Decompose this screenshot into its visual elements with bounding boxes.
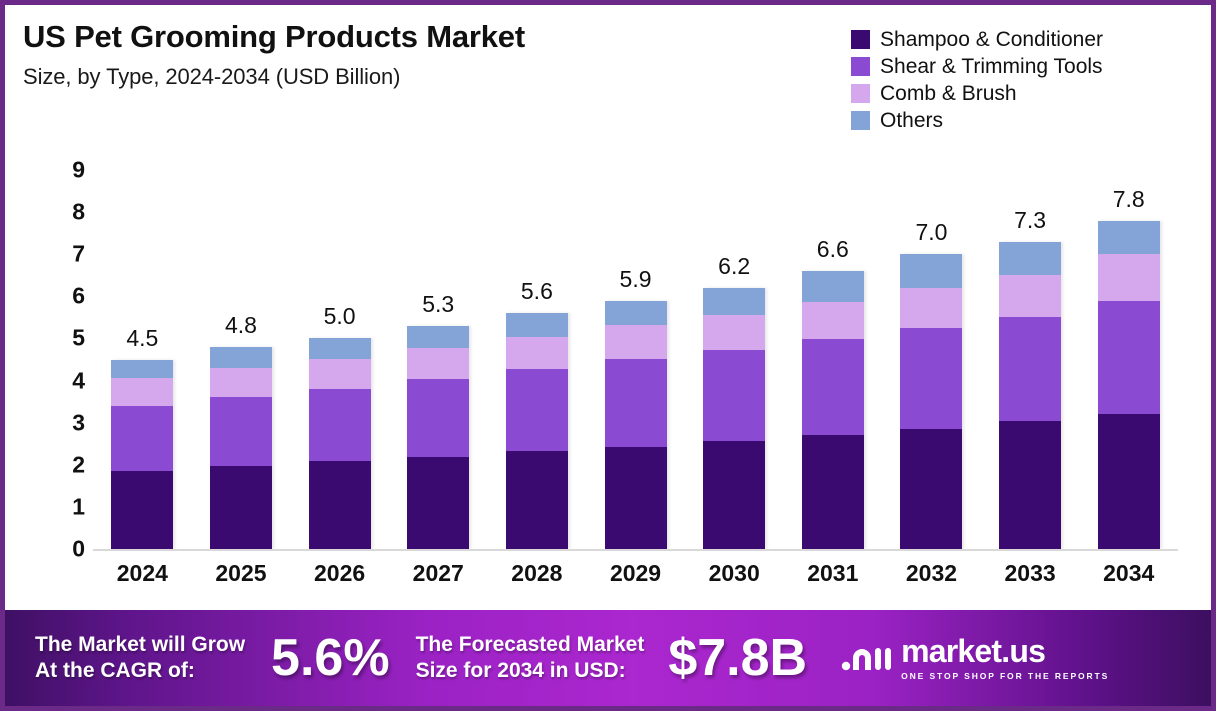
stacked-bar[interactable] — [802, 271, 864, 549]
header: US Pet Grooming Products Market Size, by… — [23, 19, 783, 90]
logo-wordmark: market.us — [901, 635, 1109, 667]
bar-value-label: 5.0 — [324, 305, 356, 328]
bar-segment[interactable] — [309, 389, 371, 461]
stacked-bar[interactable] — [111, 360, 173, 549]
page-title: US Pet Grooming Products Market — [23, 19, 783, 55]
legend-label: Shampoo & Conditioner — [880, 29, 1103, 50]
stacked-bar[interactable] — [309, 338, 371, 549]
bar-segment[interactable] — [506, 451, 568, 549]
infographic-frame: US Pet Grooming Products Market Size, by… — [0, 0, 1216, 711]
legend-swatch-icon — [851, 84, 870, 103]
cagr-label-line1: The Market will Grow — [35, 632, 245, 658]
bar-column: 6.2 — [685, 170, 784, 549]
y-axis-tick: 6 — [72, 285, 85, 308]
legend-label: Shear & Trimming Tools — [880, 56, 1103, 77]
bar-segment[interactable] — [1098, 254, 1160, 300]
y-axis-tick: 9 — [72, 159, 85, 182]
bar-segment[interactable] — [900, 328, 962, 429]
bar-segment[interactable] — [703, 315, 765, 350]
bar-segment[interactable] — [703, 441, 765, 549]
legend-label: Others — [880, 110, 943, 131]
bar-segment[interactable] — [309, 338, 371, 358]
bar-segment[interactable] — [506, 369, 568, 451]
bottom-banner: The Market will Grow At the CAGR of: 5.6… — [5, 610, 1211, 706]
bar-column: 7.3 — [981, 170, 1080, 549]
legend-item[interactable]: Others — [851, 110, 1103, 131]
y-axis-tick: 5 — [72, 327, 85, 350]
bar-segment[interactable] — [111, 378, 173, 406]
bar-column: 4.5 — [93, 170, 192, 549]
y-axis-tick: 3 — [72, 411, 85, 434]
bar-column: 4.8 — [192, 170, 291, 549]
x-axis-tick: 2029 — [586, 560, 685, 587]
cagr-value: 5.6% — [271, 632, 390, 684]
bar-column: 5.3 — [389, 170, 488, 549]
legend-label: Comb & Brush — [880, 83, 1017, 104]
bar-column: 5.6 — [488, 170, 587, 549]
stacked-bar[interactable] — [1098, 221, 1160, 549]
legend-swatch-icon — [851, 111, 870, 130]
bar-segment[interactable] — [309, 359, 371, 389]
x-axis: 2024202520262027202820292030203120322033… — [93, 560, 1178, 587]
bar-segment[interactable] — [900, 288, 962, 328]
bar-segment[interactable] — [111, 406, 173, 471]
bar-value-label: 7.8 — [1113, 188, 1145, 211]
legend-swatch-icon — [851, 57, 870, 76]
bar-segment[interactable] — [999, 242, 1061, 276]
y-axis-tick: 8 — [72, 201, 85, 224]
legend-item[interactable]: Shampoo & Conditioner — [851, 29, 1103, 50]
bar-segment[interactable] — [506, 337, 568, 369]
bar-group: 4.54.85.05.35.65.96.26.67.07.37.8 — [93, 170, 1178, 549]
chart-legend: Shampoo & ConditionerShear & Trimming To… — [851, 29, 1103, 137]
bar-segment[interactable] — [802, 339, 864, 435]
market-us-logo-icon — [841, 636, 893, 681]
cagr-label-line2: At the CAGR of: — [35, 658, 245, 684]
bar-value-label: 7.3 — [1014, 209, 1046, 232]
y-axis-tick: 2 — [72, 453, 85, 476]
brand-logo[interactable]: market.us ONE STOP SHOP FOR THE REPORTS — [841, 635, 1109, 681]
logo-tagline: ONE STOP SHOP FOR THE REPORTS — [901, 671, 1109, 681]
bar-segment[interactable] — [1098, 221, 1160, 255]
y-axis-tick: 0 — [72, 538, 85, 561]
x-axis-tick: 2030 — [685, 560, 784, 587]
bar-segment[interactable] — [999, 421, 1061, 549]
bar-segment[interactable] — [605, 359, 667, 447]
y-axis: 0123456789 — [51, 170, 85, 551]
bar-segment[interactable] — [407, 457, 469, 549]
x-axis-tick: 2032 — [882, 560, 981, 587]
x-axis-tick: 2028 — [488, 560, 587, 587]
stacked-bar[interactable] — [703, 288, 765, 549]
bar-segment[interactable] — [802, 435, 864, 549]
bar-segment[interactable] — [605, 325, 667, 359]
bar-column: 5.0 — [290, 170, 389, 549]
stacked-bar[interactable] — [210, 347, 272, 549]
y-axis-tick: 7 — [72, 243, 85, 266]
bar-segment[interactable] — [900, 429, 962, 549]
bar-column: 6.6 — [783, 170, 882, 549]
x-axis-tick: 2031 — [783, 560, 882, 587]
bar-column: 5.9 — [586, 170, 685, 549]
x-axis-tick: 2027 — [389, 560, 488, 587]
bar-segment[interactable] — [210, 368, 272, 397]
bar-value-label: 5.3 — [422, 293, 454, 316]
bar-segment[interactable] — [605, 447, 667, 549]
bar-segment[interactable] — [703, 350, 765, 441]
stacked-bar[interactable] — [605, 301, 667, 549]
forecast-label-line2: Size for 2034 in USD: — [416, 658, 645, 684]
bar-segment[interactable] — [999, 275, 1061, 316]
bar-segment[interactable] — [605, 301, 667, 326]
page-subtitle: Size, by Type, 2024-2034 (USD Billion) — [23, 64, 783, 90]
stacked-bar[interactable] — [900, 254, 962, 549]
bar-value-label: 5.9 — [620, 268, 652, 291]
bar-segment[interactable] — [506, 313, 568, 337]
legend-swatch-icon — [851, 30, 870, 49]
bar-segment[interactable] — [999, 317, 1061, 421]
x-axis-tick: 2033 — [981, 560, 1080, 587]
x-axis-tick: 2034 — [1079, 560, 1178, 587]
legend-item[interactable]: Comb & Brush — [851, 83, 1103, 104]
bar-segment[interactable] — [407, 379, 469, 457]
stacked-bar[interactable] — [506, 313, 568, 549]
bar-segment[interactable] — [802, 271, 864, 302]
x-axis-tick: 2024 — [93, 560, 192, 587]
bar-segment[interactable] — [309, 461, 371, 549]
bar-value-label: 6.2 — [718, 255, 750, 278]
bar-segment[interactable] — [210, 466, 272, 549]
chart-plot-area: 0123456789 4.54.85.05.35.65.96.26.67.07.… — [93, 170, 1193, 551]
bar-segment[interactable] — [407, 348, 469, 379]
bar-segment[interactable] — [210, 397, 272, 466]
logo-text: market.us ONE STOP SHOP FOR THE REPORTS — [901, 635, 1109, 681]
forecast-label: The Forecasted Market Size for 2034 in U… — [416, 632, 645, 683]
bar-segment[interactable] — [900, 254, 962, 288]
forecast-value: $7.8B — [668, 632, 807, 684]
stacked-bar[interactable] — [999, 242, 1061, 549]
y-axis-tick: 1 — [72, 495, 85, 518]
forecast-label-line1: The Forecasted Market — [416, 632, 645, 658]
bar-segment[interactable] — [407, 326, 469, 348]
bar-value-label: 6.6 — [817, 238, 849, 261]
bar-segment[interactable] — [1098, 301, 1160, 414]
bar-segment[interactable] — [111, 360, 173, 379]
bar-column: 7.0 — [882, 170, 981, 549]
bar-value-label: 4.5 — [126, 327, 158, 350]
bar-value-label: 5.6 — [521, 280, 553, 303]
bar-segment[interactable] — [210, 347, 272, 368]
legend-item[interactable]: Shear & Trimming Tools — [851, 56, 1103, 77]
x-axis-tick: 2026 — [290, 560, 389, 587]
bar-value-label: 4.8 — [225, 314, 257, 337]
bar-segment[interactable] — [1098, 414, 1160, 549]
bar-segment[interactable] — [111, 471, 173, 549]
x-axis-tick: 2025 — [192, 560, 291, 587]
bar-value-label: 7.0 — [915, 221, 947, 244]
bar-segment[interactable] — [802, 302, 864, 339]
y-axis-tick: 4 — [72, 369, 85, 392]
bar-column: 7.8 — [1079, 170, 1178, 549]
bar-segment[interactable] — [703, 288, 765, 315]
x-axis-line — [93, 549, 1178, 551]
stacked-bar[interactable] — [407, 326, 469, 549]
cagr-label: The Market will Grow At the CAGR of: — [35, 632, 245, 683]
